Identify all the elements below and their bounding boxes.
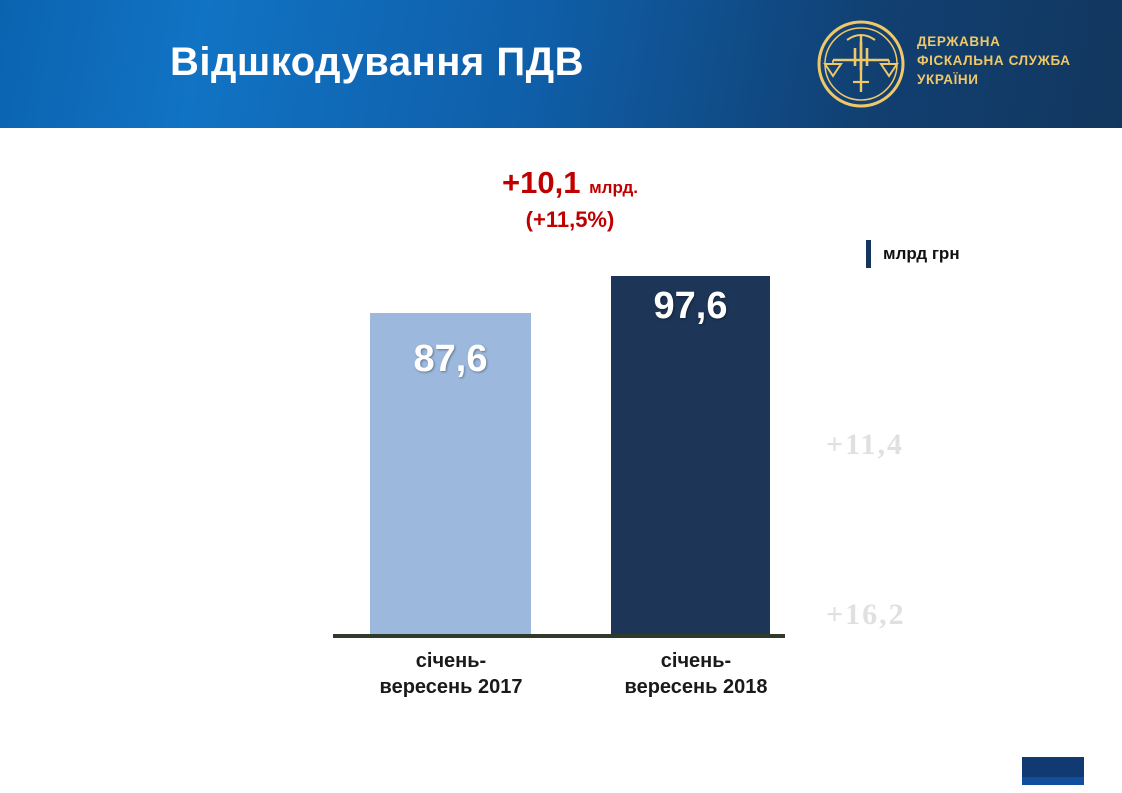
units-tick-icon xyxy=(866,240,871,268)
delta-value-row: +10,1 млрд. xyxy=(430,166,710,205)
organization-logo: ДЕРЖАВНА ФІСКАЛЬНА СЛУЖБА УКРАЇНИ xyxy=(817,18,1087,110)
bar-value-2018: 97,6 xyxy=(611,285,770,328)
bar-chart: +10,1 млрд. (+11,5%) млрд грн +11,4 +16,… xyxy=(0,128,1122,793)
category-label-2018-line1: січень- xyxy=(600,648,792,674)
header-banner: Відшкодування ПДВ ДЕРЖАВНА ФІСКАЛЬНА СЛУ… xyxy=(0,0,1122,128)
category-label-2017-line1: січень- xyxy=(355,648,547,674)
x-axis-line xyxy=(333,634,785,638)
organization-name: ДЕРЖАВНА ФІСКАЛЬНА СЛУЖБА УКРАЇНИ xyxy=(917,32,1071,89)
delta-annotation: +10,1 млрд. (+11,5%) xyxy=(430,166,710,237)
category-label-2017: січень- вересень 2017 xyxy=(355,648,547,700)
delta-value: +10,1 xyxy=(502,165,580,200)
bars-container xyxy=(0,313,1122,637)
delta-percent: (+11,5%) xyxy=(430,203,710,237)
dfs-coat-of-arms-icon xyxy=(817,20,905,108)
bar-2018 xyxy=(611,276,770,637)
corner-mark xyxy=(1022,757,1084,785)
category-label-2018: січень- вересень 2018 xyxy=(600,648,792,700)
bar-value-2017: 87,6 xyxy=(370,338,531,381)
category-label-2017-line2: вересень 2017 xyxy=(355,674,547,700)
page-title: Відшкодування ПДВ xyxy=(170,40,584,85)
units-legend: млрд грн xyxy=(866,240,960,268)
logo-line-2: ФІСКАЛЬНА СЛУЖБА xyxy=(917,51,1071,70)
logo-line-3: УКРАЇНИ xyxy=(917,70,1071,89)
logo-line-1: ДЕРЖАВНА xyxy=(917,32,1071,51)
category-label-2018-line2: вересень 2018 xyxy=(600,674,792,700)
bars-inner xyxy=(0,313,1122,637)
delta-unit: млрд. xyxy=(589,178,638,197)
units-label: млрд грн xyxy=(883,244,960,264)
